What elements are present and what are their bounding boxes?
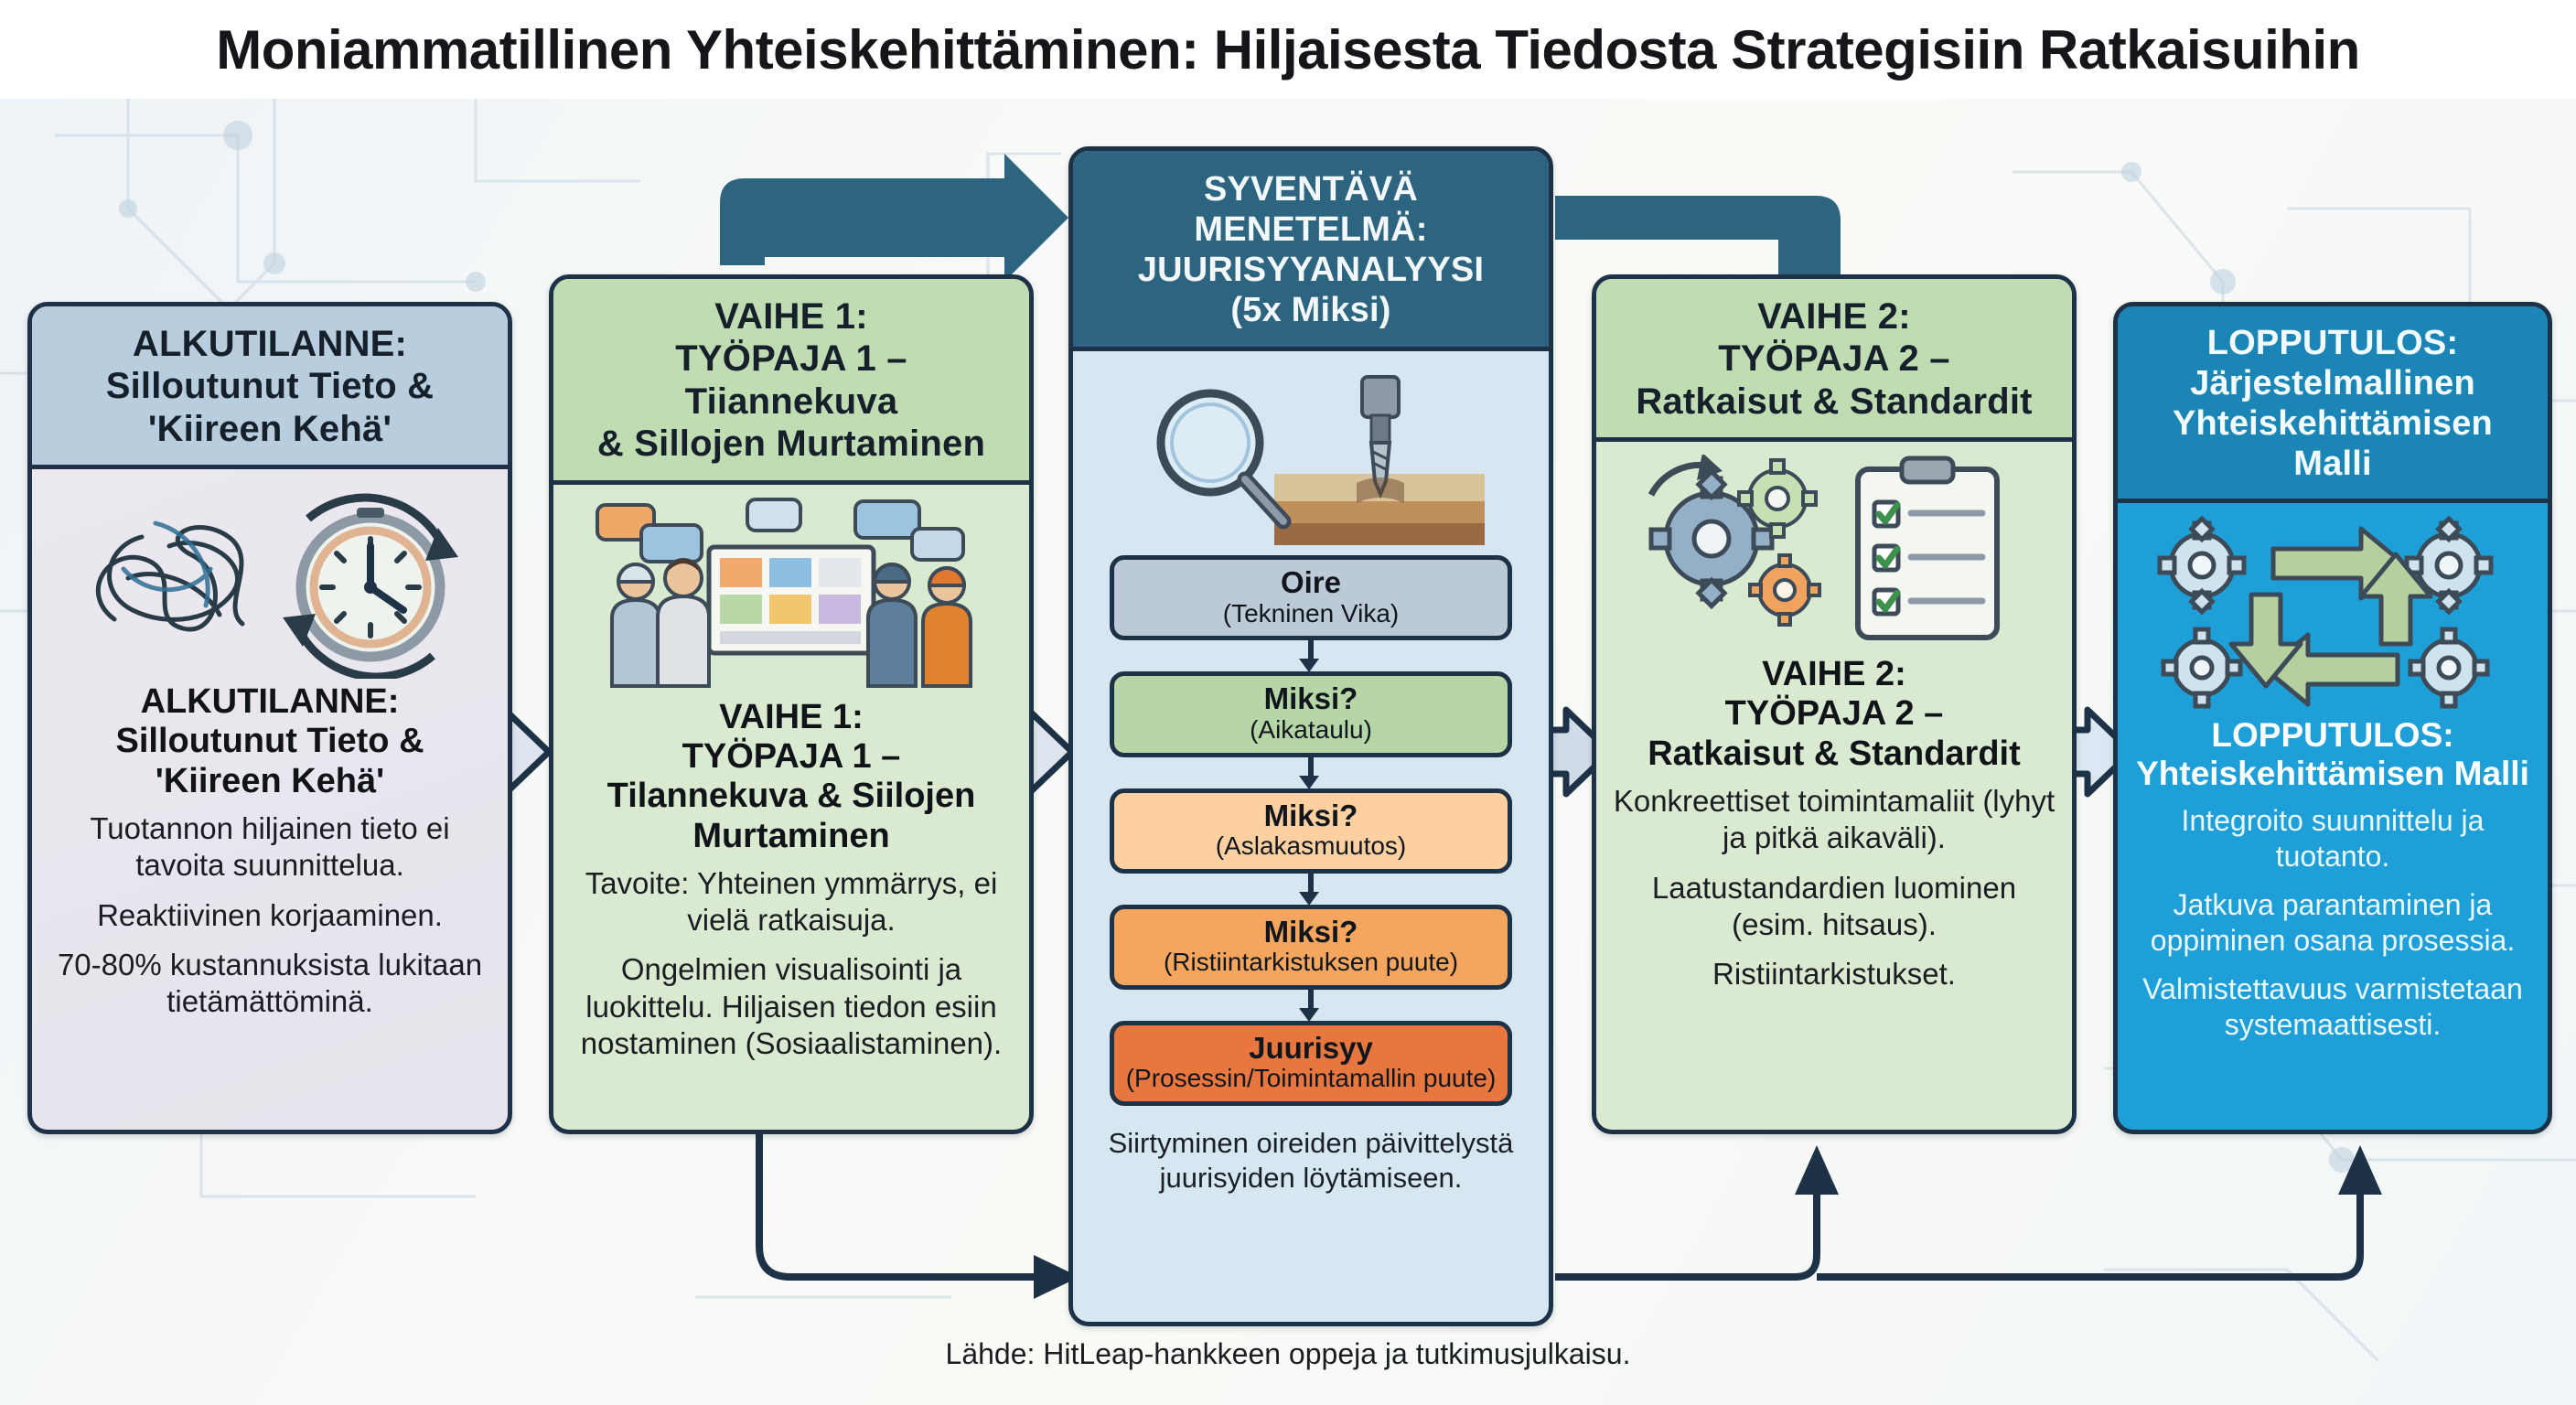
card-phase-1-para-2: Ongelmien visualisointi ja luokittelu. H… bbox=[570, 951, 1013, 1062]
flow-connector-1 bbox=[1306, 640, 1315, 671]
page-title-text: Moniammatillinen Yhteiskehittäminen: Hil… bbox=[216, 18, 2360, 81]
subtitle-line-3: Ratkaisut & Standardit bbox=[1648, 735, 2021, 774]
card-phase-2-para-3: Ristiintarkistukset. bbox=[1712, 956, 1956, 992]
header-line-2: Järjestelmallinen bbox=[2129, 363, 2537, 403]
workshop-team-whiteboard-icon bbox=[570, 498, 1013, 694]
card-phase-1-header: VAIHE 1: TYÖPAJA 1 – Tiiannekuva & Sillo… bbox=[553, 279, 1029, 485]
card-result-para-1: Integroito suunnittelu ja tuotanto. bbox=[2134, 803, 2531, 874]
source-caption: Lähde: HitLeap-hankkeen oppeja ja tutkim… bbox=[0, 1337, 2576, 1371]
card-phase-2-header: VAIHE 2: TYÖPAJA 2 – Ratkaisut & Standar… bbox=[1596, 279, 2072, 442]
card-initial-state-subtitle: ALKUTILANNE: Silloutunut Tieto & 'Kiiree… bbox=[115, 682, 424, 801]
flow-box-why-3-subtitle: (Ristiintarkistuksen puute) bbox=[1122, 949, 1500, 977]
flow-box-why-2[interactable]: Miksi? (Aslakasmuutos) bbox=[1110, 788, 1512, 874]
flow-connector-4 bbox=[1306, 990, 1315, 1021]
subtitle-line-2: TYÖPAJA 1 – bbox=[607, 737, 976, 777]
subtitle-line-1: VAIHE 2: bbox=[1648, 655, 2021, 694]
flow-box-symptom-subtitle: (Tekninen Vika) bbox=[1122, 600, 1500, 628]
subtitle-line-3: 'Kiireen Kehä' bbox=[115, 762, 424, 801]
magnifier-and-drill-icon bbox=[1088, 364, 1534, 552]
header-line-2: JUURISYYANALYYSI bbox=[1082, 250, 1540, 290]
card-initial-state-para-1: Tuotannon hiljainen tieto ei tavoita suu… bbox=[48, 810, 491, 885]
flow-box-symptom[interactable]: Oire (Tekninen Vika) bbox=[1110, 555, 1512, 640]
infographic-canvas: Moniammatillinen Yhteiskehittäminen: Hil… bbox=[0, 0, 2576, 1405]
card-root-cause-method[interactable]: SYVENTÄVÄ MENETELMÄ: JUURISYYANALYYSI (5… bbox=[1068, 146, 1553, 1326]
card-phase-1-subtitle: VAIHE 1: TYÖPAJA 1 – Tilannekuva & Siilo… bbox=[607, 698, 976, 856]
subtitle-line-2: Yhteiskehittämisen Malli bbox=[2136, 755, 2529, 793]
card-initial-state-header: ALKUTILANNE: Silloutunut Tieto & 'Kiiree… bbox=[32, 306, 508, 469]
header-line-1: SYVENTÄVÄ MENETELMÄ: bbox=[1082, 169, 1540, 250]
card-result-subtitle: LOPPUTULOS: Yhteiskehittämisen Malli bbox=[2136, 716, 2529, 793]
header-line-3: Ratkaisut & Standardit bbox=[1607, 381, 2061, 423]
card-phase-1[interactable]: VAIHE 1: TYÖPAJA 1 – Tiiannekuva & Sillo… bbox=[549, 274, 1034, 1134]
header-line-1: VAIHE 2: bbox=[1607, 295, 2061, 338]
card-result-para-3: Valmistettavuus varmistetaan systemaatti… bbox=[2134, 971, 2531, 1043]
subtitle-line-1: LOPPUTULOS: bbox=[2136, 716, 2529, 755]
subtitle-line-1: VAIHE 1: bbox=[607, 698, 976, 737]
flow-connector-2 bbox=[1306, 757, 1315, 788]
header-line-2: Silloutunut Tieto & bbox=[43, 365, 497, 407]
subtitle-line-2: Silloutunut Tieto & bbox=[115, 722, 424, 761]
flow-box-root-cause[interactable]: Juurisyy (Prosessin/Toimintamallin puute… bbox=[1110, 1021, 1512, 1106]
header-line-1: ALKUTILANNE: bbox=[43, 323, 497, 365]
gears-and-cycle-arrows-icon bbox=[2134, 516, 2531, 713]
flow-box-why-3-title: Miksi? bbox=[1122, 916, 1500, 949]
card-phase-1-body: VAIHE 1: TYÖPAJA 1 – Tilannekuva & Siilo… bbox=[553, 485, 1029, 1130]
flow-connector-3 bbox=[1306, 874, 1315, 905]
card-root-cause-method-footnote: Siirtyminen oireiden päivittelystä juuri… bbox=[1088, 1126, 1534, 1196]
flow-box-root-cause-title: Juurisyy bbox=[1122, 1032, 1500, 1065]
header-line-2: TYÖPAJA 1 – Tiiannekuva bbox=[564, 338, 1018, 423]
card-initial-state[interactable]: ALKUTILANNE: Silloutunut Tieto & 'Kiiree… bbox=[27, 302, 512, 1134]
card-phase-1-para-1: Tavoite: Yhteinen ymmärrys, ei vielä rat… bbox=[570, 865, 1013, 939]
flow-box-why-3[interactable]: Miksi? (Ristiintarkistuksen puute) bbox=[1110, 905, 1512, 990]
gears-and-checklist-icon bbox=[1613, 455, 2055, 651]
card-root-cause-method-body: Oire (Tekninen Vika) Miksi? (Aikataulu) … bbox=[1073, 351, 1549, 1322]
page-title: Moniammatillinen Yhteiskehittäminen: Hil… bbox=[0, 0, 2576, 99]
card-phase-2-para-1: Konkreettiset toimintamaliit (lyhyt ja p… bbox=[1613, 783, 2055, 857]
card-initial-state-body: ALKUTILANNE: Silloutunut Tieto & 'Kiiree… bbox=[32, 469, 508, 1130]
card-phase-2[interactable]: VAIHE 2: TYÖPAJA 2 – Ratkaisut & Standar… bbox=[1592, 274, 2077, 1134]
card-result[interactable]: LOPPUTULOS: Järjestelmallinen Yhteiskehi… bbox=[2113, 302, 2552, 1134]
card-root-cause-method-header: SYVENTÄVÄ MENETELMÄ: JUURISYYANALYYSI (5… bbox=[1073, 151, 1549, 351]
card-phase-2-subtitle: VAIHE 2: TYÖPAJA 2 – Ratkaisut & Standar… bbox=[1648, 655, 2021, 774]
tangled-threads-and-clock-icon bbox=[48, 482, 491, 679]
subtitle-line-4: Murtaminen bbox=[607, 817, 976, 856]
card-phase-2-para-2: Laatustandardien luominen (esim. hitsaus… bbox=[1613, 870, 2055, 944]
flow-box-symptom-title: Oire bbox=[1122, 566, 1500, 599]
flow-box-root-cause-subtitle: (Prosessin/Toimintamallin puute) bbox=[1122, 1065, 1500, 1093]
subtitle-line-1: ALKUTILANNE: bbox=[115, 682, 424, 722]
card-result-para-2: Jatkuva parantaminen ja oppiminen osana … bbox=[2134, 887, 2531, 959]
card-result-body: LOPPUTULOS: Yhteiskehittämisen Malli Int… bbox=[2118, 503, 2548, 1130]
flow-box-why-2-subtitle: (Aslakasmuutos) bbox=[1122, 832, 1500, 861]
header-line-3: Yhteiskehittämisen Malli bbox=[2129, 403, 2537, 484]
header-line-1: LOPPUTULOS: bbox=[2129, 323, 2537, 363]
header-line-3: 'Kiireen Kehä' bbox=[43, 408, 497, 450]
flow-box-why-1-title: Miksi? bbox=[1122, 682, 1500, 715]
header-line-3: (5x Miksi) bbox=[1082, 290, 1540, 330]
flow-box-why-1[interactable]: Miksi? (Aikataulu) bbox=[1110, 671, 1512, 756]
flow-box-why-2-title: Miksi? bbox=[1122, 799, 1500, 832]
subtitle-line-3: Tilannekuva & Siilojen bbox=[607, 777, 976, 816]
card-initial-state-para-2: Reaktiivinen korjaaminen. bbox=[97, 897, 443, 934]
header-line-1: VAIHE 1: bbox=[564, 295, 1018, 338]
header-line-3: & Sillojen Murtaminen bbox=[564, 423, 1018, 465]
header-line-2: TYÖPAJA 2 – bbox=[1607, 338, 2061, 380]
subtitle-line-2: TYÖPAJA 2 – bbox=[1648, 694, 2021, 734]
card-phase-2-body: VAIHE 2: TYÖPAJA 2 – Ratkaisut & Standar… bbox=[1596, 442, 2072, 1130]
card-result-header: LOPPUTULOS: Järjestelmallinen Yhteiskehi… bbox=[2118, 306, 2548, 503]
card-initial-state-para-3: 70-80% kustannuksista lukitaan tietämätt… bbox=[48, 947, 491, 1021]
flow-box-why-1-subtitle: (Aikataulu) bbox=[1122, 716, 1500, 745]
